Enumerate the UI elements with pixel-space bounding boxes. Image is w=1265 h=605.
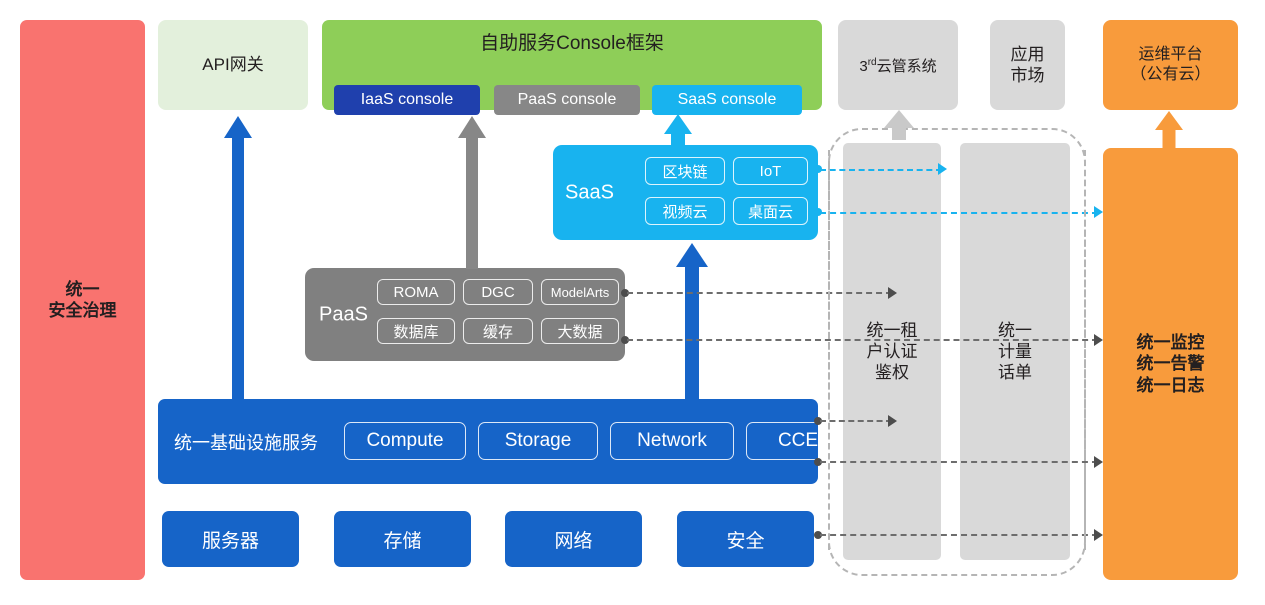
region-divider-left (828, 150, 830, 550)
iaas-service-compute[interactable]: Compute (344, 422, 466, 460)
arrowhead-saas-to-ops (1094, 206, 1103, 218)
architecture-diagram: 统一 安全治理 API网关 自助服务Console框架 IaaS console… (0, 0, 1265, 605)
arrow-region-to-third-party (884, 110, 914, 140)
unified-infrastructure-service-box: 统一基础设施服务 Compute Storage Network CCE (158, 399, 818, 484)
saas-service-iot[interactable]: IoT (733, 157, 808, 185)
iaas-service-network[interactable]: Network (610, 422, 734, 460)
arrow-paas-to-console (456, 116, 488, 269)
arrowhead-saas-to-auth (938, 163, 947, 175)
dashed-infra-to-ops (820, 461, 1098, 463)
hardware-item-security[interactable]: 安全 (677, 511, 814, 567)
unified-metering-label: 统一 计量 话单 (998, 320, 1032, 384)
arrowhead-infra-to-ops (1094, 456, 1103, 468)
third-party-label: 3rd云管系统 (859, 55, 936, 76)
saas-stack-label: SaaS (565, 181, 614, 204)
arrow-infra-to-api-gateway (222, 116, 254, 400)
saas-layer-box: SaaS 区块链 IoT 视频云 桌面云 (553, 145, 818, 240)
arrow-saas-to-console (662, 114, 694, 147)
ops-platform-label: 运维平台 （公有云） (1130, 45, 1210, 85)
paas-layer-box: PaaS ROMA DGC ModelArts 数据库 缓存 大数据 (305, 268, 625, 361)
region-divider-right (1084, 150, 1086, 550)
paas-console-button[interactable]: PaaS console (494, 85, 640, 115)
paas-service-bigdata[interactable]: 大数据 (541, 318, 619, 344)
dashed-saas-to-auth (820, 169, 942, 171)
iaas-stack-label: 统一基础设施服务 (174, 429, 318, 455)
hardware-item-server[interactable]: 服务器 (162, 511, 299, 567)
unified-monitoring-label: 统一监控 统一告警 统一日志 (1137, 332, 1205, 396)
app-market-label: 应用 市场 (1011, 44, 1045, 87)
third-party-cloud-management-box: 3rd云管系统 (838, 20, 958, 110)
dashed-infra-to-auth (820, 420, 892, 422)
saas-service-video-cloud[interactable]: 视频云 (645, 197, 725, 225)
saas-service-desktop-cloud[interactable]: 桌面云 (733, 197, 808, 225)
paas-service-roma[interactable]: ROMA (377, 279, 455, 305)
unified-monitoring-panel: 统一监控 统一告警 统一日志 (1103, 148, 1238, 580)
unified-metering-column: 统一 计量 话单 (960, 143, 1070, 560)
arrowhead-paas-to-auth (888, 287, 897, 299)
ops-platform-public-cloud-box: 运维平台 （公有云） (1103, 20, 1238, 110)
arrowhead-paas-to-ops (1094, 334, 1103, 346)
unified-tenant-auth-column: 统一租 户认证 鉴权 (843, 143, 941, 560)
api-gateway-label: API网关 (202, 54, 263, 75)
dashed-hardware-to-ops (820, 534, 1098, 536)
paas-service-modelarts[interactable]: ModelArts (541, 279, 619, 305)
governance-label: 统一 安全治理 (49, 279, 117, 322)
api-gateway-box: API网关 (158, 20, 308, 110)
hardware-item-storage[interactable]: 存储 (334, 511, 471, 567)
hardware-item-network[interactable]: 网络 (505, 511, 642, 567)
saas-console-button[interactable]: SaaS console (652, 85, 802, 115)
arrowhead-infra-to-auth (888, 415, 897, 427)
app-market-box: 应用 市场 (990, 20, 1065, 110)
saas-service-blockchain[interactable]: 区块链 (645, 157, 725, 185)
paas-service-database[interactable]: 数据库 (377, 318, 455, 344)
dashed-saas-to-ops (820, 212, 1098, 214)
iaas-console-button[interactable]: IaaS console (334, 85, 480, 115)
unified-tenant-auth-label: 统一租 户认证 鉴权 (867, 320, 918, 384)
unified-security-governance-panel: 统一 安全治理 (20, 20, 145, 580)
self-service-console-frame: 自助服务Console框架 IaaS console PaaS console … (322, 20, 822, 110)
console-frame-title: 自助服务Console框架 (322, 28, 822, 55)
paas-stack-label: PaaS (319, 303, 368, 326)
dashed-paas-to-auth (627, 292, 892, 294)
paas-service-cache[interactable]: 缓存 (463, 318, 533, 344)
arrow-ops-main-to-ops-platform (1155, 111, 1183, 150)
paas-service-dgc[interactable]: DGC (463, 279, 533, 305)
iaas-service-storage[interactable]: Storage (478, 422, 598, 460)
arrow-infra-to-saas (674, 243, 710, 401)
arrowhead-hardware-to-ops (1094, 529, 1103, 541)
